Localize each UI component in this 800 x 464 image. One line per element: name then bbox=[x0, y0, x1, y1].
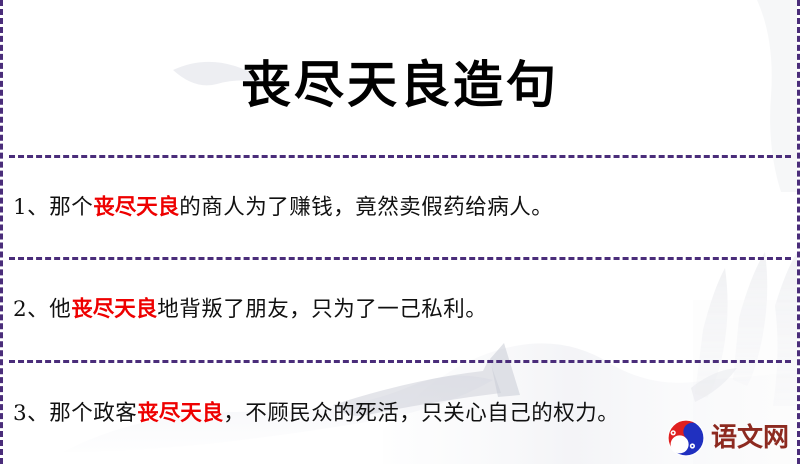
taiji-yinyang-icon bbox=[666, 418, 706, 458]
sentence-3-after: ，不顾民众的死活，只关心自己的权力。 bbox=[223, 401, 619, 426]
sentence-2-number: 2、 bbox=[13, 297, 49, 322]
sentence-1-before: 那个 bbox=[49, 195, 93, 220]
sentence-3-number: 3、 bbox=[13, 401, 49, 426]
example-sentence-2: 2、他丧尽天良地背叛了朋友，只为了一己私利。 bbox=[3, 281, 797, 339]
document-content: 丧尽天良造句 1、那个丧尽天良的商人为了赚钱，竟然卖假药给病人。 2、他丧尽天良… bbox=[3, 34, 797, 464]
sentence-2-before: 他 bbox=[49, 297, 71, 322]
dashed-rule-2 bbox=[9, 257, 791, 260]
site-logo[interactable]: 语文网 bbox=[666, 418, 789, 458]
sentence-2-keyword: 丧尽天良 bbox=[71, 297, 157, 322]
page-title: 丧尽天良造句 bbox=[3, 34, 797, 122]
sentence-3-before: 那个政客 bbox=[49, 401, 137, 426]
dashed-rule-3 bbox=[9, 360, 791, 363]
dashed-rule-1 bbox=[9, 155, 791, 158]
site-logo-text: 语文网 bbox=[711, 425, 789, 451]
sentence-1-after: 的商人为了赚钱，竟然卖假药给病人。 bbox=[179, 195, 553, 220]
sentence-3-keyword: 丧尽天良 bbox=[137, 401, 223, 426]
sentence-1-number: 1、 bbox=[13, 195, 49, 220]
example-sentence-1: 1、那个丧尽天良的商人为了赚钱，竟然卖假药给病人。 bbox=[3, 180, 797, 236]
sentence-1-keyword: 丧尽天良 bbox=[93, 195, 179, 220]
sentence-2-after: 地背叛了朋友，只为了一己私利。 bbox=[157, 297, 487, 322]
page-root: 丧尽天良造句 1、那个丧尽天良的商人为了赚钱，竟然卖假药给病人。 2、他丧尽天良… bbox=[0, 0, 800, 464]
